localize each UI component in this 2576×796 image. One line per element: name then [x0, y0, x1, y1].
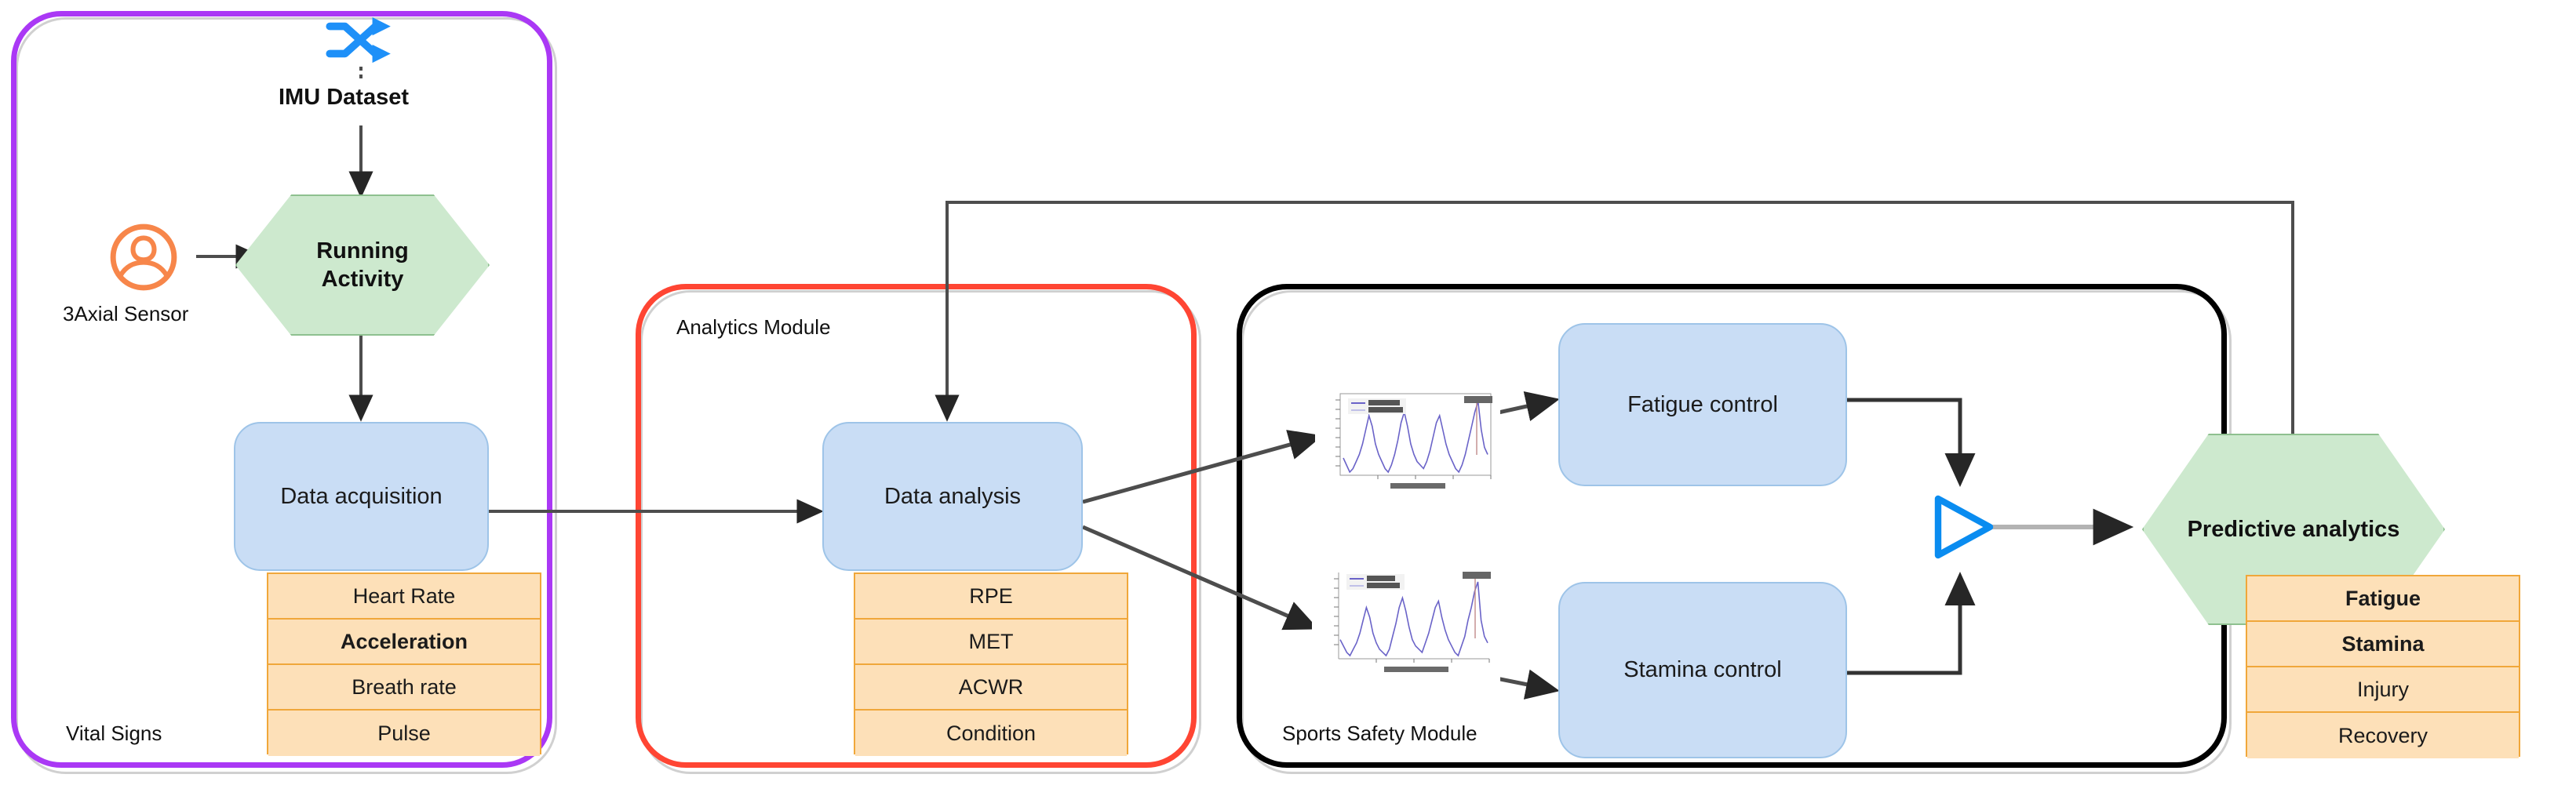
attribute-row: Condition — [855, 711, 1127, 756]
node-label: Predictive analytics — [2188, 515, 2400, 543]
fatigue-signal-chart — [1315, 386, 1500, 496]
attribute-row: Stamina — [2247, 622, 2519, 667]
node-stamina-control[interactable]: Stamina control — [1558, 582, 1847, 758]
attribute-table-vital-signs: Heart Rate Acceleration Breath rate Puls… — [267, 572, 541, 754]
attribute-row: Breath rate — [268, 665, 540, 711]
node-data-acquisition[interactable]: Data acquisition — [234, 422, 489, 571]
module-label-sports-safety: Sports Safety Module — [1282, 721, 1477, 746]
imu-dataset-label: IMU Dataset — [279, 85, 409, 111]
node-fatigue-control[interactable]: Fatigue control — [1558, 323, 1847, 486]
attribute-row: RPE — [855, 574, 1127, 620]
node-label: Fatigue control — [1627, 392, 1778, 418]
diagram-canvas: Vital Signs Analytics Module Sports Safe… — [0, 0, 2576, 796]
attribute-row: Acceleration — [268, 620, 540, 665]
module-label-analytics: Analytics Module — [676, 315, 831, 340]
node-label: Stamina control — [1623, 657, 1782, 683]
attribute-row: Injury — [2247, 667, 2519, 713]
attribute-row: ACWR — [855, 665, 1127, 711]
attribute-row: Pulse — [268, 711, 540, 756]
shuffle-icon — [325, 16, 399, 64]
triangle-amplifier-icon[interactable] — [1932, 494, 1996, 560]
attribute-table-predictive: Fatigue Stamina Injury Recovery — [2246, 575, 2520, 757]
module-label-vital-signs: Vital Signs — [66, 721, 162, 746]
axial-sensor-label: 3Axial Sensor — [63, 302, 188, 326]
attribute-row: Heart Rate — [268, 574, 540, 620]
node-data-analysis[interactable]: Data analysis — [822, 422, 1083, 571]
attribute-row: Fatigue — [2247, 576, 2519, 622]
node-label: Running Activity — [316, 237, 409, 294]
attribute-table-analytics: RPE MET ACWR Condition — [854, 572, 1128, 754]
stamina-signal-chart — [1312, 566, 1500, 684]
person-sensor-icon — [108, 222, 179, 293]
node-label: Data acquisition — [280, 484, 442, 510]
attribute-row: MET — [855, 620, 1127, 665]
attribute-row: Recovery — [2247, 713, 2519, 758]
node-label: Data analysis — [884, 484, 1021, 510]
